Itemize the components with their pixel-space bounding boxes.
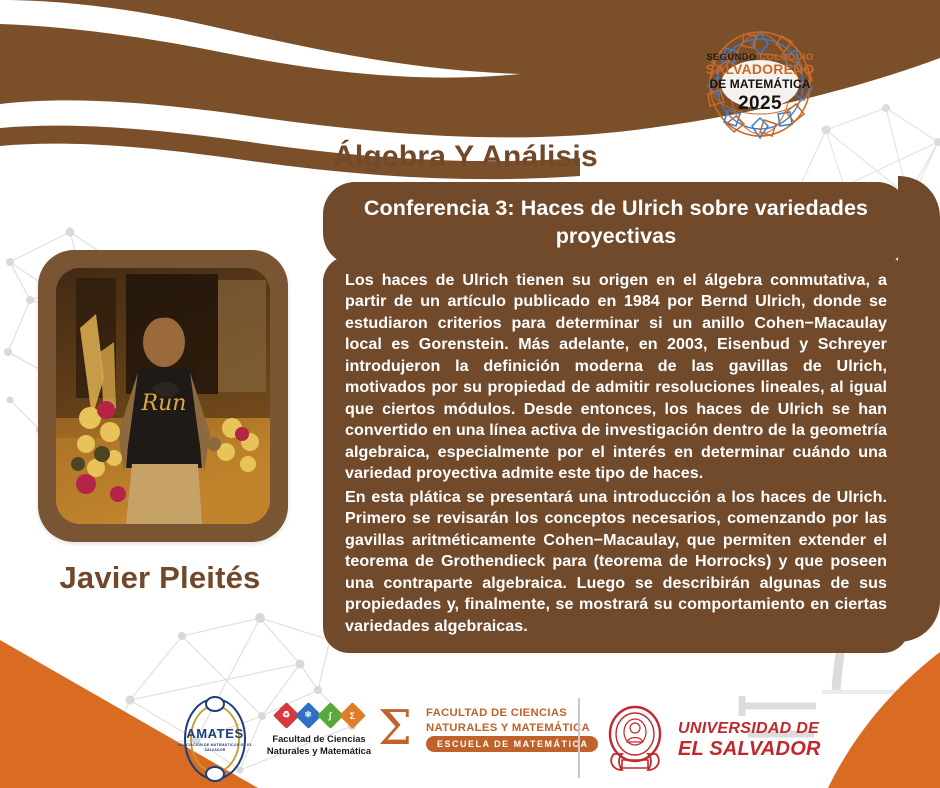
fcnm-diamond-icons: ♻ ⚛ ∫ Σ (258, 702, 380, 728)
ues-line1: UNIVERSIDAD DE (678, 720, 819, 738)
logo-line3: DE MATEMÁTICA (709, 78, 810, 92)
amates-subtitle: ASOCIACIÓN DE MATEMÁTICOS DE EL SALVADOR (176, 743, 254, 754)
escuela-matematica-logo: Σ FACULTAD DE CIENCIAS NATURALES Y MATEM… (378, 704, 550, 760)
ues-line2: EL SALVADOR (678, 738, 821, 761)
sigma-icon: Σ (339, 702, 366, 729)
escuela-badge: ESCUELA DE MATEMÁTICA (426, 736, 598, 752)
abstract-paragraph-2: En esta plática se presentará una introd… (345, 487, 887, 637)
ues-logo: UNIVERSIDAD DE EL SALVADOR (600, 700, 830, 778)
sigma-glyph-icon: Σ (378, 706, 412, 750)
logo-year: 2025 (738, 93, 782, 116)
poster-canvas: SEGUNDO COLOQUIO SALVADOREÑO DE MATEMÁTI… (0, 0, 940, 788)
speaker-photo: Run (56, 268, 270, 524)
footer-divider (578, 698, 580, 778)
fcnm-logo: ♻ ⚛ ∫ Σ Facultad de Ciencias Naturales y… (258, 702, 380, 757)
talk-title: Conferencia 3: Haces de Ulrich sobre var… (323, 182, 909, 265)
amates-logo: AMATES ASOCIACIÓN DE MATEMÁTICOS DE EL S… (176, 696, 254, 782)
ues-seal-icon (600, 702, 670, 776)
event-logo: SEGUNDO COLOQUIO SALVADOREÑO DE MATEMÁTI… (700, 28, 820, 140)
speaker-photo-frame: Run (38, 250, 288, 542)
svg-text:Run: Run (141, 391, 187, 416)
fcnm-caption-line1: Facultad de Ciencias (258, 733, 380, 745)
abstract-panel: Los haces de Ulrich tienen su origen en … (323, 256, 909, 653)
speaker-name: Javier Pleités (10, 560, 310, 596)
section-title: Álgebra Y Análisis (333, 140, 598, 174)
logo-line2: SALVADOREÑO (705, 62, 814, 77)
footer-logos: AMATES ASOCIACIÓN DE MATEMÁTICOS DE EL S… (0, 692, 940, 788)
abstract-paragraph-1: Los haces de Ulrich tienen su origen en … (345, 270, 887, 485)
escuela-line1: FACULTAD DE CIENCIAS (426, 706, 590, 721)
fcnm-caption-line2: Naturales y Matemática (258, 745, 380, 757)
amates-title: AMATES (176, 726, 254, 741)
escuela-line2: NATURALES Y MATEMÁTICA (426, 721, 590, 736)
